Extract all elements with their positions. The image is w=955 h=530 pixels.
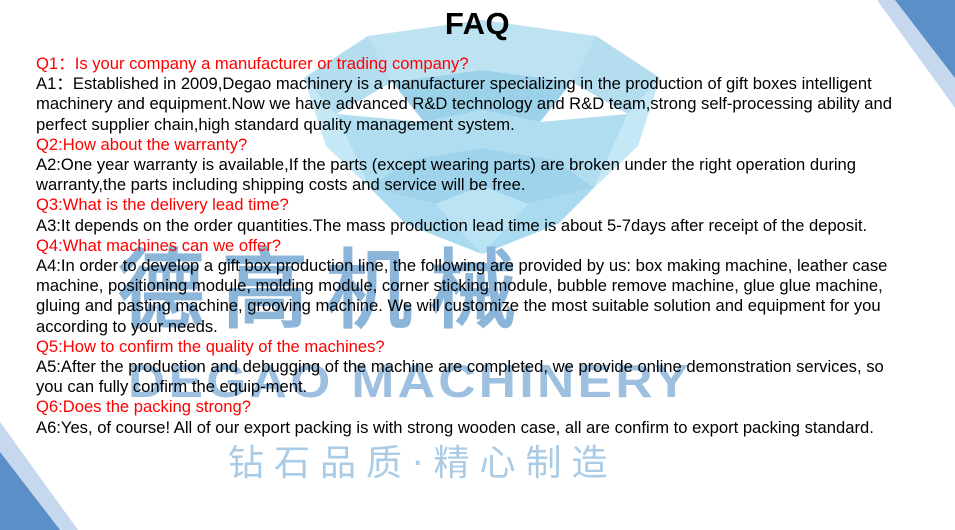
faq-slide: 德高机械 DEGAO MACHINERY 钻石品质·精心制造 FAQ Q1：Is… bbox=[0, 0, 955, 530]
faq-entry: Q4:What machines can we offer? A4:In ord… bbox=[36, 236, 902, 337]
faq-list: Q1：Is your company a manufacturer or tra… bbox=[36, 54, 902, 438]
faq-answer: A4:In order to develop a gift box produc… bbox=[36, 256, 902, 337]
faq-question: Q4:What machines can we offer? bbox=[36, 236, 902, 256]
faq-question: Q2:How about the warranty? bbox=[36, 135, 902, 155]
faq-question: Q6:Does the packing strong? bbox=[36, 397, 902, 417]
faq-entry: Q5:How to confirm the quality of the mac… bbox=[36, 337, 902, 398]
faq-answer: A3:It depends on the order quantities.Th… bbox=[36, 216, 902, 236]
faq-answer: A1：Established in 2009,Degao machinery i… bbox=[36, 74, 902, 135]
faq-question: Q5:How to confirm the quality of the mac… bbox=[36, 337, 902, 357]
faq-answer: A2:One year warranty is available,If the… bbox=[36, 155, 902, 195]
faq-entry: Q2:How about the warranty? A2:One year w… bbox=[36, 135, 902, 196]
faq-question: Q1：Is your company a manufacturer or tra… bbox=[36, 54, 902, 74]
faq-answer: A5:After the production and debugging of… bbox=[36, 357, 902, 397]
faq-entry: Q6:Does the packing strong? A6:Yes, of c… bbox=[36, 397, 902, 437]
page-title: FAQ bbox=[0, 7, 955, 41]
faq-answer: A6:Yes, of course! All of our export pac… bbox=[36, 418, 902, 438]
faq-question: Q3:What is the delivery lead time? bbox=[36, 195, 902, 215]
faq-entry: Q3:What is the delivery lead time? A3:It… bbox=[36, 195, 902, 235]
faq-entry: Q1：Is your company a manufacturer or tra… bbox=[36, 54, 902, 135]
slide-content: FAQ Q1：Is your company a manufacturer or… bbox=[0, 0, 955, 530]
